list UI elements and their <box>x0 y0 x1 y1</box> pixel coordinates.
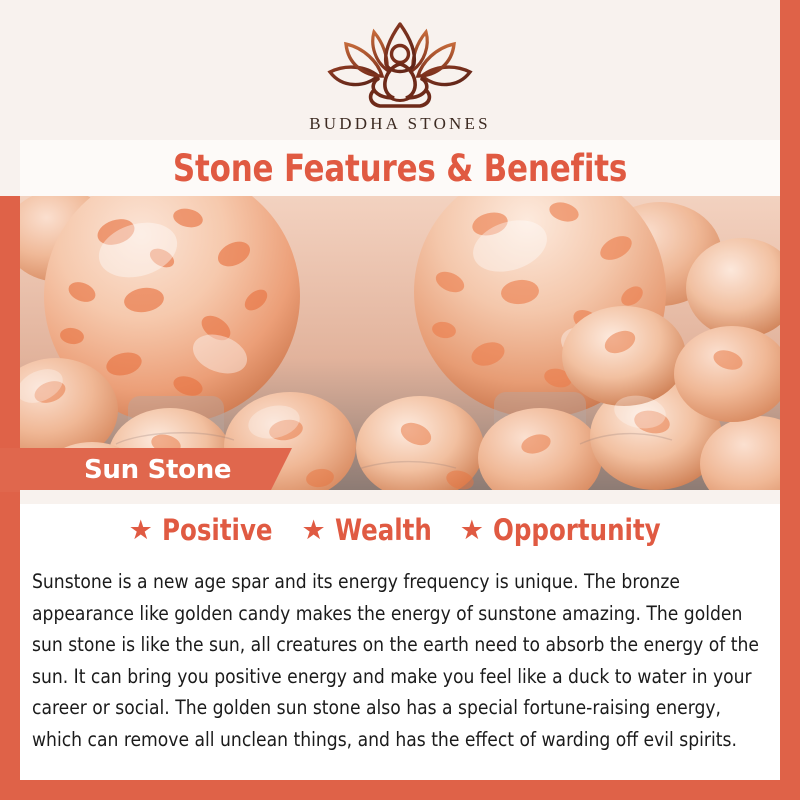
benefit-label: Positive <box>162 513 273 547</box>
panel-top-tint <box>20 490 780 504</box>
benefit-label: Opportunity <box>493 513 661 547</box>
benefit-item-positive: ★ Positive <box>129 513 280 547</box>
benefit-item-opportunity: ★ Opportunity <box>460 513 672 547</box>
brand-logo: BUDDHA STONES <box>0 18 800 134</box>
product-name-label: Sun Stone <box>84 455 231 485</box>
star-icon: ★ <box>129 517 153 544</box>
infographic-page: BUDDHA STONES Stone Features & Benefits <box>0 0 800 800</box>
brand-name: BUDDHA STONES <box>309 114 491 134</box>
page-title: Stone Features & Benefits <box>47 140 754 196</box>
product-name-banner: Sun Stone <box>0 448 292 492</box>
benefit-label: Wealth <box>335 513 432 547</box>
star-icon: ★ <box>301 517 325 544</box>
star-icon: ★ <box>460 517 484 544</box>
product-photo <box>20 196 780 490</box>
description-text: Sunstone is a new age spar and its energ… <box>32 566 761 755</box>
benefits-row: ★ Positive ★ Wealth ★ Opportunity <box>20 506 780 554</box>
benefit-item-wealth: ★ Wealth <box>301 513 437 547</box>
lotus-meditation-figure-icon <box>316 18 484 110</box>
